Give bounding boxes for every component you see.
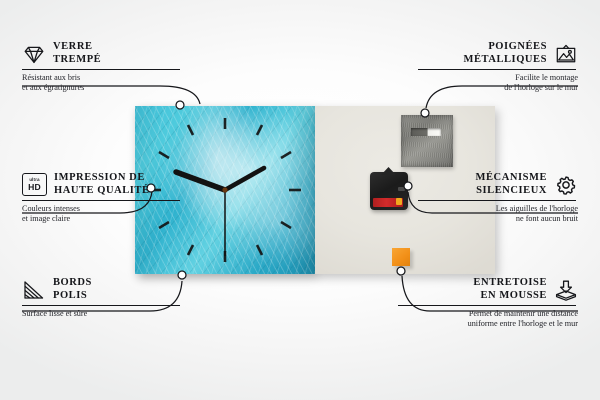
feature-desc-line-1: Les aiguilles de l'horloge [418, 204, 578, 214]
battery [373, 198, 403, 207]
feature-verre-trempe: VERRE TREMPÉ Résistant aux bris et aux é… [22, 41, 182, 93]
feature-desc-line-2: et aux égratignures [22, 83, 182, 93]
feature-title: VERRE TREMPÉ [53, 41, 101, 66]
feature-desc-line-2: uniforme entre l'horloge et le mur [398, 319, 578, 329]
feature-header: MÉCANISME SILENCIEUX [418, 172, 578, 197]
polished-edge-icon [22, 279, 46, 301]
feature-desc-line-1: Couleurs intenses [22, 204, 182, 214]
feature-header: VERRE TREMPÉ [22, 41, 182, 66]
ultra-hd-icon-large-text: HD [28, 183, 41, 192]
feature-divider [398, 305, 576, 306]
feature-desc-line-1: Résistant aux bris [22, 73, 182, 83]
picture-hanger-icon [554, 43, 578, 65]
feature-desc-line-1: Permet de maintenir une distance [398, 309, 578, 319]
feature-divider [22, 305, 180, 306]
feature-desc-line-2: de l'horloge sur le mur [418, 83, 578, 93]
feature-title: IMPRESSION DE HAUTE QUALITÉ [54, 172, 150, 197]
feature-title: ENTRETOISE EN MOUSSE [473, 277, 547, 302]
feature-title: BORDS POLIS [53, 277, 92, 302]
feature-header: POIGNÉES MÉTALLIQUES [418, 41, 578, 66]
feature-divider [22, 200, 180, 201]
feature-divider [22, 69, 180, 70]
battery-terminal [396, 198, 402, 205]
feature-header: ultra HD IMPRESSION DE HAUTE QUALITÉ [22, 172, 182, 197]
feature-entretoise-en-mousse: ENTRETOISE EN MOUSSE Permet de maintenir… [398, 277, 578, 329]
feature-desc-line-2: et image claire [22, 214, 182, 224]
feature-header: ENTRETOISE EN MOUSSE [398, 277, 578, 302]
feature-desc-line-1: Facilite le montage [418, 73, 578, 83]
hanger-slot [411, 128, 441, 136]
foam-spacer-icon [554, 279, 578, 301]
diamond-icon [22, 43, 46, 65]
product-infographic: VERRE TREMPÉ Résistant aux bris et aux é… [0, 0, 600, 400]
mechanism-detail [398, 187, 405, 191]
gear-icon [554, 174, 578, 196]
feature-divider [418, 200, 576, 201]
feature-poignees-metalliques: POIGNÉES MÉTALLIQUES Facilite le montage… [418, 41, 578, 93]
ultra-hd-icon: ultra HD [22, 173, 47, 196]
metal-hanger-plate [401, 115, 453, 167]
feature-mecanisme-silencieux: MÉCANISME SILENCIEUX Les aiguilles de l'… [418, 172, 578, 224]
clock-mechanism [370, 172, 408, 210]
feature-header: BORDS POLIS [22, 277, 182, 302]
feature-desc-line-1: Surface lisse et sûre [22, 309, 182, 319]
feature-desc-line-2: ne font aucun bruit [418, 214, 578, 224]
foam-spacer-part [392, 248, 410, 266]
feature-divider [418, 69, 576, 70]
feature-bords-polis: BORDS POLIS Surface lisse et sûre [22, 277, 182, 319]
feature-title: POIGNÉES MÉTALLIQUES [464, 41, 547, 66]
feature-impression-haute-qualite: ultra HD IMPRESSION DE HAUTE QUALITÉ Cou… [22, 172, 182, 224]
feature-title: MÉCANISME SILENCIEUX [476, 172, 547, 197]
